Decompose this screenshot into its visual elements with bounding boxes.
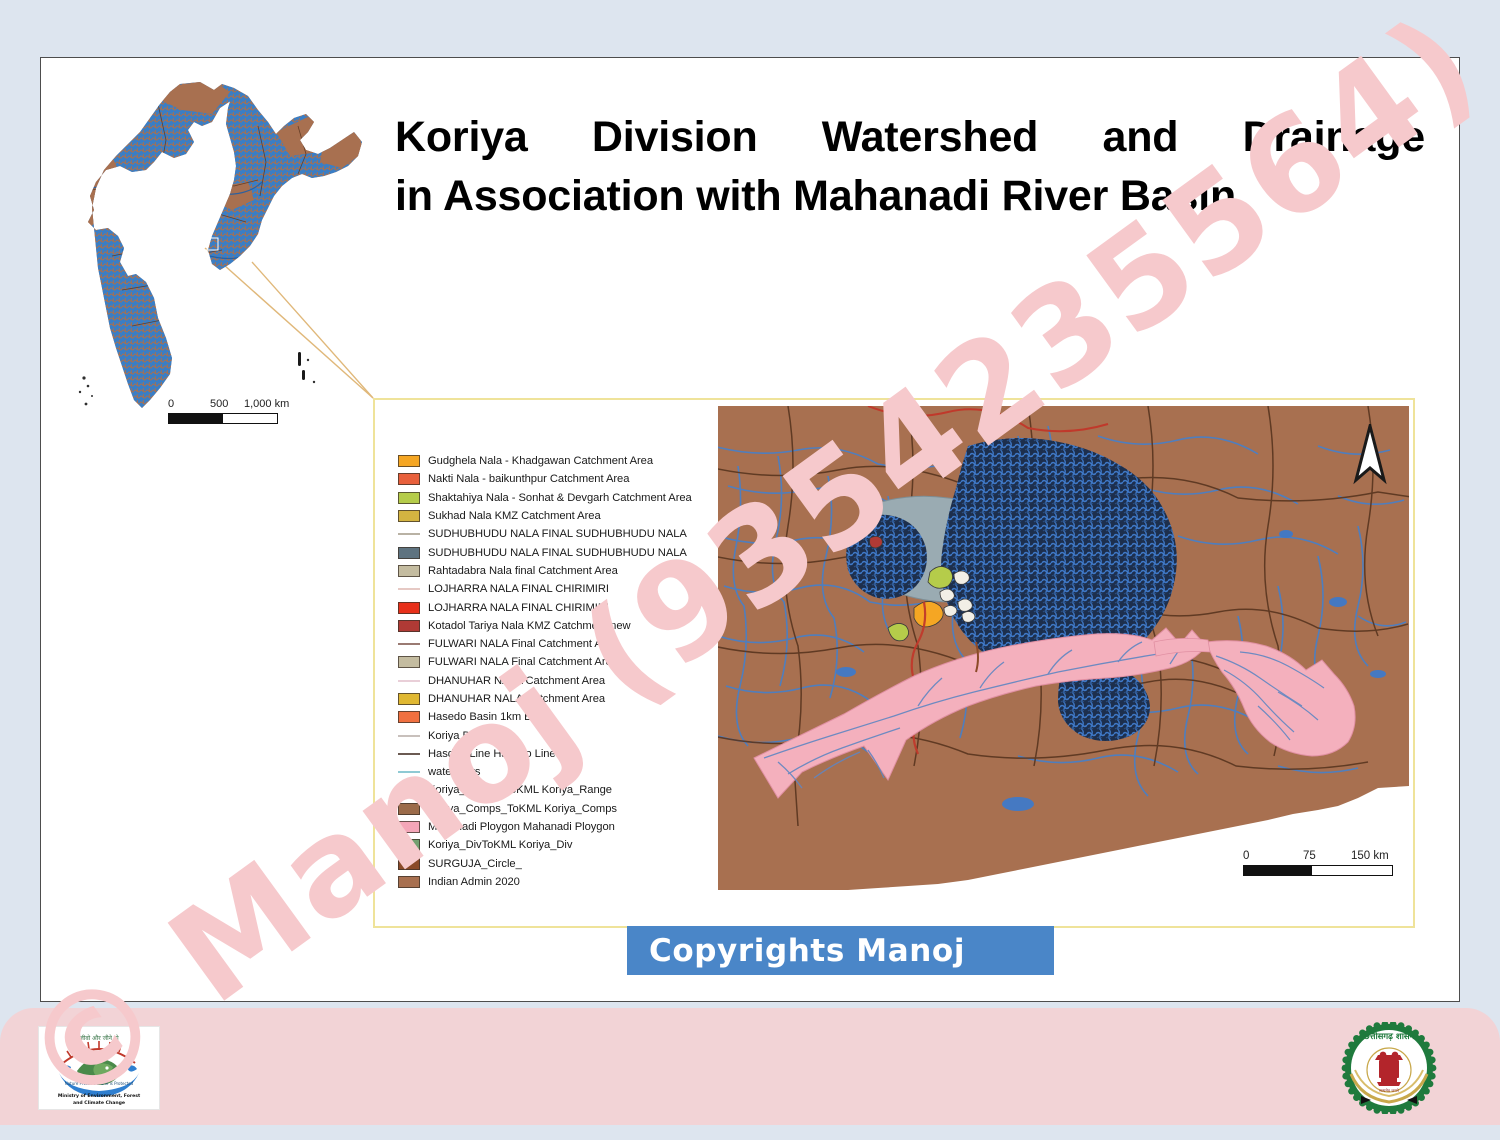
legend-item[interactable]: Koriya_DivToKML Koriya_Div [398,836,698,854]
copyright-banner: Copyrights Manoj [627,926,1054,975]
chhattisgarh-logo-right: छत्तीसगढ़ शासन सत्यमेव जयते [1325,1022,1453,1114]
svg-text:Ministry of Environment, Fores: Ministry of Environment, Forest [58,1093,141,1099]
india-overview-inset [62,70,382,415]
legend-swatch-icon [398,565,420,577]
map-scale-tick-0: 0 [1243,850,1249,862]
svg-text:सत्यमेव जयते: सत्यमेव जयते [1379,1088,1399,1093]
page-title-line-2: in Association with Mahanadi River Basin… [395,167,1425,226]
legend-item-label: FULWARI NALA Final Catchment Area [428,656,618,668]
legend-item[interactable]: Gudghela Nala - Khadgawan Catchment Area [398,452,698,470]
legend-swatch-icon [398,473,420,485]
legend-item[interactable]: SURGUJA_Circle_ [398,855,698,873]
legend-item[interactable]: Sukhad Nala KMZ Catchment Area [398,507,698,525]
legend-swatch-icon [398,858,420,870]
ministry-environment-forest-climate-change-emblem: जीवो और जीने दो Nature Protects if She i… [39,1027,159,1109]
svg-text:and Climate Change: and Climate Change [73,1100,125,1106]
legend-line-icon [398,643,420,645]
legend-swatch-icon [398,602,420,614]
small-catchment-polygon [958,599,972,611]
india-inset-scalebar: 0 500 1,000 km [168,398,278,424]
legend-swatch-icon [398,821,420,833]
legend-item[interactable]: LOJHARRA NALA FINAL CHIRIMIRI [398,598,698,616]
legend-item-label: Nakti Nala - baikunthpur Catchment Area [428,473,629,485]
legend-item[interactable]: SUDHUBHUDU NALA FINAL SUDHUBHUDU NALA [398,525,698,543]
legend-swatch-icon [398,711,420,723]
north-arrow-icon [1353,424,1387,486]
legend-item[interactable]: Rahtadabra Nala final Catchment Area [398,562,698,580]
legend-swatch-icon [398,547,420,559]
legend-item[interactable]: DHANUHAR NALA Catchment Area [398,690,698,708]
legend-line-icon [398,588,420,590]
legend-item-label: SUDHUBHUDU NALA FINAL SUDHUBHUDU NALA [428,528,687,540]
legend-item-label: Koriya_Comps_ToKML Koriya_Comps [428,803,617,815]
inset-scale-tick-500: 500 [210,398,228,410]
legend-item-label: SUDHUBHUDU NALA FINAL SUDHUBHUDU NALA [428,547,687,559]
india-inset-map [62,70,382,415]
legend-line-icon [398,680,420,682]
legend-swatch-icon [398,492,420,504]
copyright-banner-label: Copyrights Manoj [627,933,965,969]
small-catchment-polygon [940,589,954,601]
legend-item-label: LOJHARRA NALA FINAL CHIRIMIRI [428,583,609,595]
legend-swatch-icon [398,455,420,467]
legend-swatch-icon [398,876,420,888]
page-title-line-1: Koriya Division Watershed and Drainage [395,108,1425,167]
legend-item[interactable]: Hasedo Basin 1km Buffer [398,708,698,726]
legend-line-icon [398,735,420,737]
legend-item[interactable]: Koriya_Comps_ToKML Koriya_Comps [398,800,698,818]
legend-line-icon [398,771,420,773]
legend-item[interactable]: Koriya_Range_ToKML Koriya_Range [398,781,698,799]
legend-item-label: Koriya Drainage [428,730,507,742]
footer-bar [0,1008,1500,1125]
main-map-canvas[interactable]: 0 75 150 km [718,406,1409,890]
legend-item-label: FULWARI NALA Final Catchment Area [428,638,618,650]
legend-item-label: Shaktahiya Nala - Sonhat & Devgarh Catch… [428,492,692,504]
chhattisgarh-government-emblem: छत्तीसगढ़ शासन सत्यमेव जयते [1325,1022,1453,1114]
inset-scalebar-bar [168,413,278,424]
map-scalebar-bar [1243,865,1393,876]
legend-item-label: Hasdeo Line Hasdeo Line [428,748,556,760]
legend-item-label: Indian Admin 2020 [428,876,520,888]
legend-item-label: DHANUHAR NALA Catchment Area [428,675,605,687]
map-legend: Gudghela Nala - Khadgawan Catchment Area… [398,452,698,891]
legend-item-label: LOJHARRA NALA FINAL CHIRIMIRI [428,602,609,614]
legend-item[interactable]: Mahanadi Ploygon Mahanadi Ploygon [398,818,698,836]
svg-text:छत्तीसगढ़ शासन: छत्तीसगढ़ शासन [1363,1031,1416,1042]
legend-line-icon [398,753,420,755]
inset-scale-tick-0: 0 [168,398,174,410]
legend-swatch-icon [398,510,420,522]
map-scalebar: 0 75 150 km [1243,850,1393,876]
legend-item[interactable]: DHANUHAR NALA Catchment Area [398,672,698,690]
legend-item-label: Sukhad Nala KMZ Catchment Area [428,510,601,522]
legend-item-label: Rahtadabra Nala final Catchment Area [428,565,618,577]
legend-item-label: Kotadol Tariya Nala KMZ Catchment new [428,620,631,632]
legend-swatch-icon [398,620,420,632]
map-frame: Gudghela Nala - Khadgawan Catchment Area… [373,398,1415,928]
legend-line-icon [398,533,420,535]
small-catchment-polygon [954,571,969,584]
legend-item[interactable]: LOJHARRA NALA FINAL CHIRIMIRI [398,580,698,598]
legend-item-label: Koriya_DivToKML Koriya_Div [428,839,572,851]
small-catchment-polygon [944,606,957,617]
legend-item[interactable]: Kotadol Tariya Nala KMZ Catchment new [398,617,698,635]
legend-item-label: Hasedo Basin 1km Buffer [428,711,554,723]
inset-scale-tick-1000: 1,000 km [244,398,289,410]
legend-swatch-icon [398,784,420,796]
legend-item[interactable]: waterways [398,763,698,781]
legend-item-label: Mahanadi Ploygon Mahanadi Ploygon [428,821,615,833]
koriya-watershed-map [718,406,1409,890]
legend-item-label: waterways [428,766,480,778]
legend-item-label: Koriya_Range_ToKML Koriya_Range [428,784,612,796]
svg-text:Nature Protects if She is Prot: Nature Protects if She is Protected [65,1081,134,1086]
small-catchment-polygon [962,612,975,623]
legend-item[interactable]: Shaktahiya Nala - Sonhat & Devgarh Catch… [398,489,698,507]
legend-swatch-icon [398,693,420,705]
svg-text:जीवो और जीने दो: जीवो और जीने दो [79,1034,119,1042]
legend-item-label: SURGUJA_Circle_ [428,858,522,870]
legend-swatch-icon [398,839,420,851]
kotadol-catchment-polygon [870,536,883,548]
legend-item[interactable]: Nakti Nala - baikunthpur Catchment Area [398,470,698,488]
legend-item-label: DHANUHAR NALA Catchment Area [428,693,605,705]
legend-item[interactable]: Koriya Drainage [398,726,698,744]
legend-item[interactable]: Indian Admin 2020 [398,873,698,891]
legend-item[interactable]: FULWARI NALA Final Catchment Area [398,635,698,653]
legend-item[interactable]: FULWARI NALA Final Catchment Area [398,653,698,671]
legend-item-label: Gudghela Nala - Khadgawan Catchment Area [428,455,653,467]
legend-item[interactable]: SUDHUBHUDU NALA FINAL SUDHUBHUDU NALA [398,543,698,561]
legend-swatch-icon [398,656,420,668]
map-scale-tick-75: 75 [1303,850,1316,862]
page-title: Koriya Division Watershed and Drainage i… [395,108,1425,227]
legend-swatch-icon [398,803,420,815]
legend-item[interactable]: Hasdeo Line Hasdeo Line [398,745,698,763]
ministry-logo-left: जीवो और जीने दो Nature Protects if She i… [38,1026,160,1110]
map-scale-tick-150: 150 km [1351,850,1389,862]
